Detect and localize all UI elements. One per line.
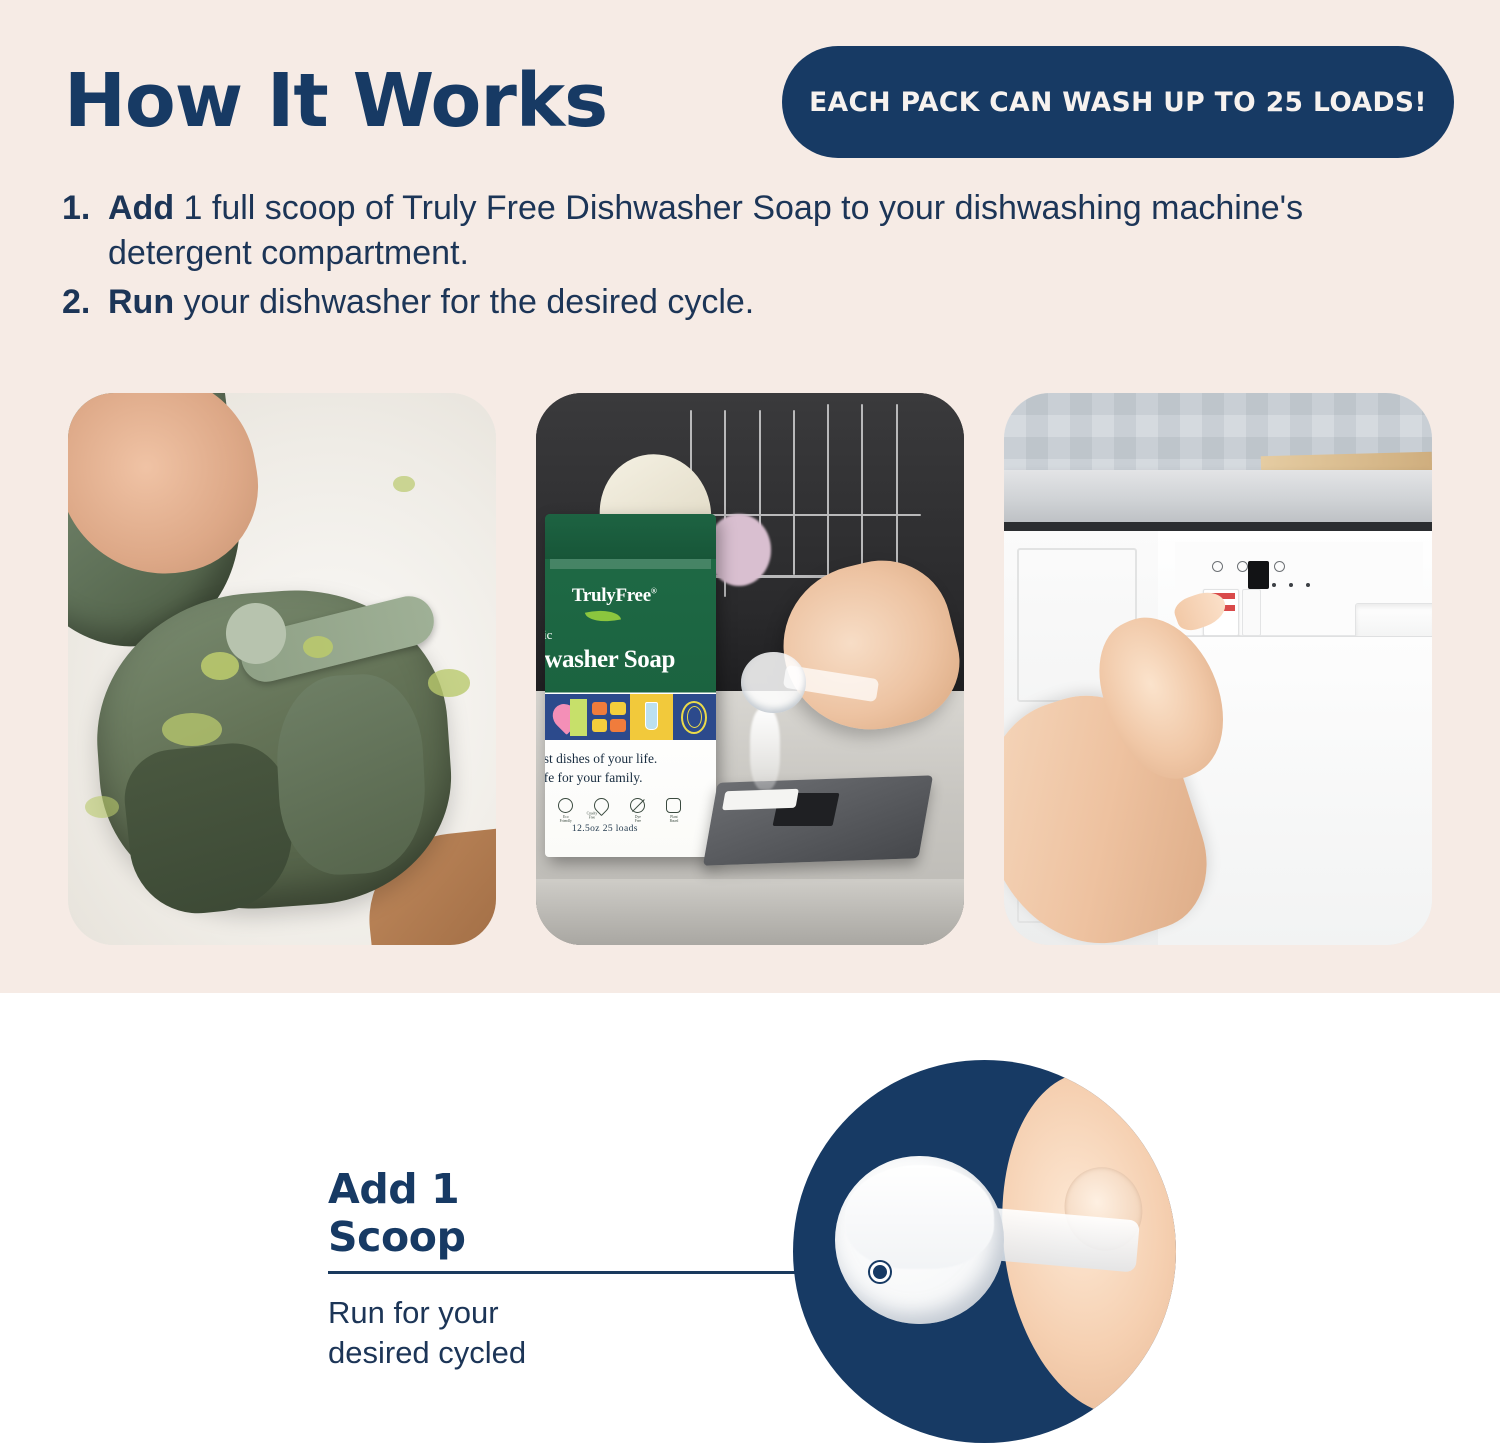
timer-icon: [1274, 561, 1285, 572]
hand-icon: [592, 702, 607, 715]
leaf-icon: [585, 605, 621, 626]
loads-badge-label: EACH PACK CAN WASH UP TO 25 LOADS!: [809, 87, 1427, 118]
drinking-glass-icon: [645, 702, 659, 730]
hand-icon: [610, 719, 625, 732]
globe-icon: EcoFriendly: [558, 798, 573, 813]
swatch-glass-tile: [630, 694, 673, 740]
brand-name: TrulyFree: [572, 585, 651, 606]
measuring-scoop: [741, 652, 805, 713]
digital-display: [1248, 561, 1269, 589]
plant-icon: PlantBased: [666, 798, 681, 813]
swatch-heart-tile: [545, 694, 588, 740]
callout-title-line-1: Add 1: [328, 1165, 868, 1213]
counter-shadow-gap: [1004, 522, 1432, 531]
hand-icon: [610, 702, 625, 715]
brand-logo-text: TrulyFree®: [572, 585, 657, 607]
no-dye-icon: DyeFree: [630, 798, 645, 813]
how-it-works-section: How It Works EACH PACK CAN WASH UP TO 25…: [0, 0, 1500, 993]
counter-edge: [536, 879, 964, 945]
pouch-subtitle: tic: [545, 627, 553, 643]
secondary-button[interactable]: [1242, 589, 1261, 636]
swatch-hands-tile: [587, 694, 630, 740]
step-lead-1: Add: [108, 189, 174, 227]
badge-caption: DyeFree: [635, 815, 641, 824]
badge-caption: EcoFriendly: [560, 815, 572, 824]
pouch-zip-seal: [550, 559, 711, 569]
dishwasher-button-photo: [1004, 393, 1432, 945]
callout-title-block: Add 1 Scoop: [328, 1165, 868, 1262]
swatch-accent: [570, 699, 587, 736]
pouch-product-name: hwasher Soap: [545, 646, 675, 674]
badge-caption: PlantBased: [670, 815, 679, 824]
pouch-top-seal: [545, 514, 716, 558]
step-item-2: 2. Run your dishwasher for the desired c…: [62, 280, 1402, 325]
photo-grid: TrulyFree® tic hwasher Soap: [68, 393, 1432, 945]
add-scoop-callout-section: Add 1 Scoop Run for your desired cycled: [0, 993, 1500, 1443]
food-residue: [201, 652, 240, 680]
rack-wire: [793, 410, 795, 576]
plate-compartment-right: [273, 671, 429, 877]
pouch-claim-text: est dishes of your life. afe for your fa…: [545, 749, 658, 788]
badge-caption: CrueltyFree: [587, 811, 598, 820]
callout-connector-dot: [870, 1262, 890, 1282]
dirty-baby-plate-photo: [68, 393, 496, 945]
step-rest-1: 1 full scoop of Truly Free Dishwasher So…: [108, 189, 1303, 272]
product-pouch: TrulyFree® tic hwasher Soap: [545, 514, 716, 856]
pouch-claim-line-2: afe for your family.: [545, 768, 658, 788]
callout-sub-line-2: desired cycled: [328, 1333, 748, 1373]
power-icon: [1212, 561, 1223, 572]
pouch-badge-row: EcoFriendly CrueltyFree DyeFree PlantBas…: [558, 790, 681, 821]
callout-subtext-block: Run for your desired cycled: [328, 1293, 748, 1374]
food-residue: [428, 669, 471, 697]
pouch-claim-line-1: est dishes of your life.: [545, 749, 658, 769]
callout-sub-line-1: Run for your: [328, 1293, 748, 1333]
powder-in-scoop: [845, 1165, 994, 1268]
hand-icon: [592, 719, 607, 732]
steps-list: 1. Add 1 full scoop of Truly Free Dishwa…: [62, 186, 1402, 329]
step-lead-2: Run: [108, 283, 174, 321]
step-item-1: 1. Add 1 full scoop of Truly Free Dishwa…: [62, 186, 1402, 276]
page-title: How It Works: [64, 64, 607, 138]
powder-in-compartment: [722, 789, 799, 810]
heart-icon: CrueltyFree: [591, 795, 612, 816]
step-text-2: Run your dishwasher for the desired cycl…: [108, 280, 1402, 325]
pouch-swatch-bar: [545, 694, 716, 740]
marble-countertop: [1004, 470, 1432, 525]
pouch-size-text: 12.5oz 25 loads: [572, 824, 638, 834]
step-text-1: Add 1 full scoop of Truly Free Dishwashe…: [108, 186, 1402, 276]
loads-badge: EACH PACK CAN WASH UP TO 25 LOADS!: [782, 46, 1454, 158]
step-number-2: 2.: [62, 280, 108, 325]
falling-powder: [750, 708, 780, 791]
swatch-seed-tile: [673, 694, 716, 740]
food-residue: [393, 476, 414, 493]
brand-trademark: ®: [651, 586, 657, 595]
slash: [632, 799, 645, 812]
callout-title-line-2: Scoop: [328, 1213, 868, 1261]
header-row: How It Works EACH PACK CAN WASH UP TO 25…: [64, 38, 1454, 158]
step-number-1: 1.: [62, 186, 108, 231]
seed-of-life-inner: [687, 706, 702, 728]
scoop-pouring-photo: TrulyFree® tic hwasher Soap: [536, 393, 964, 945]
step-rest-2: your dishwasher for the desired cycle.: [174, 283, 754, 321]
scoop-circle-image: [793, 1060, 1176, 1443]
